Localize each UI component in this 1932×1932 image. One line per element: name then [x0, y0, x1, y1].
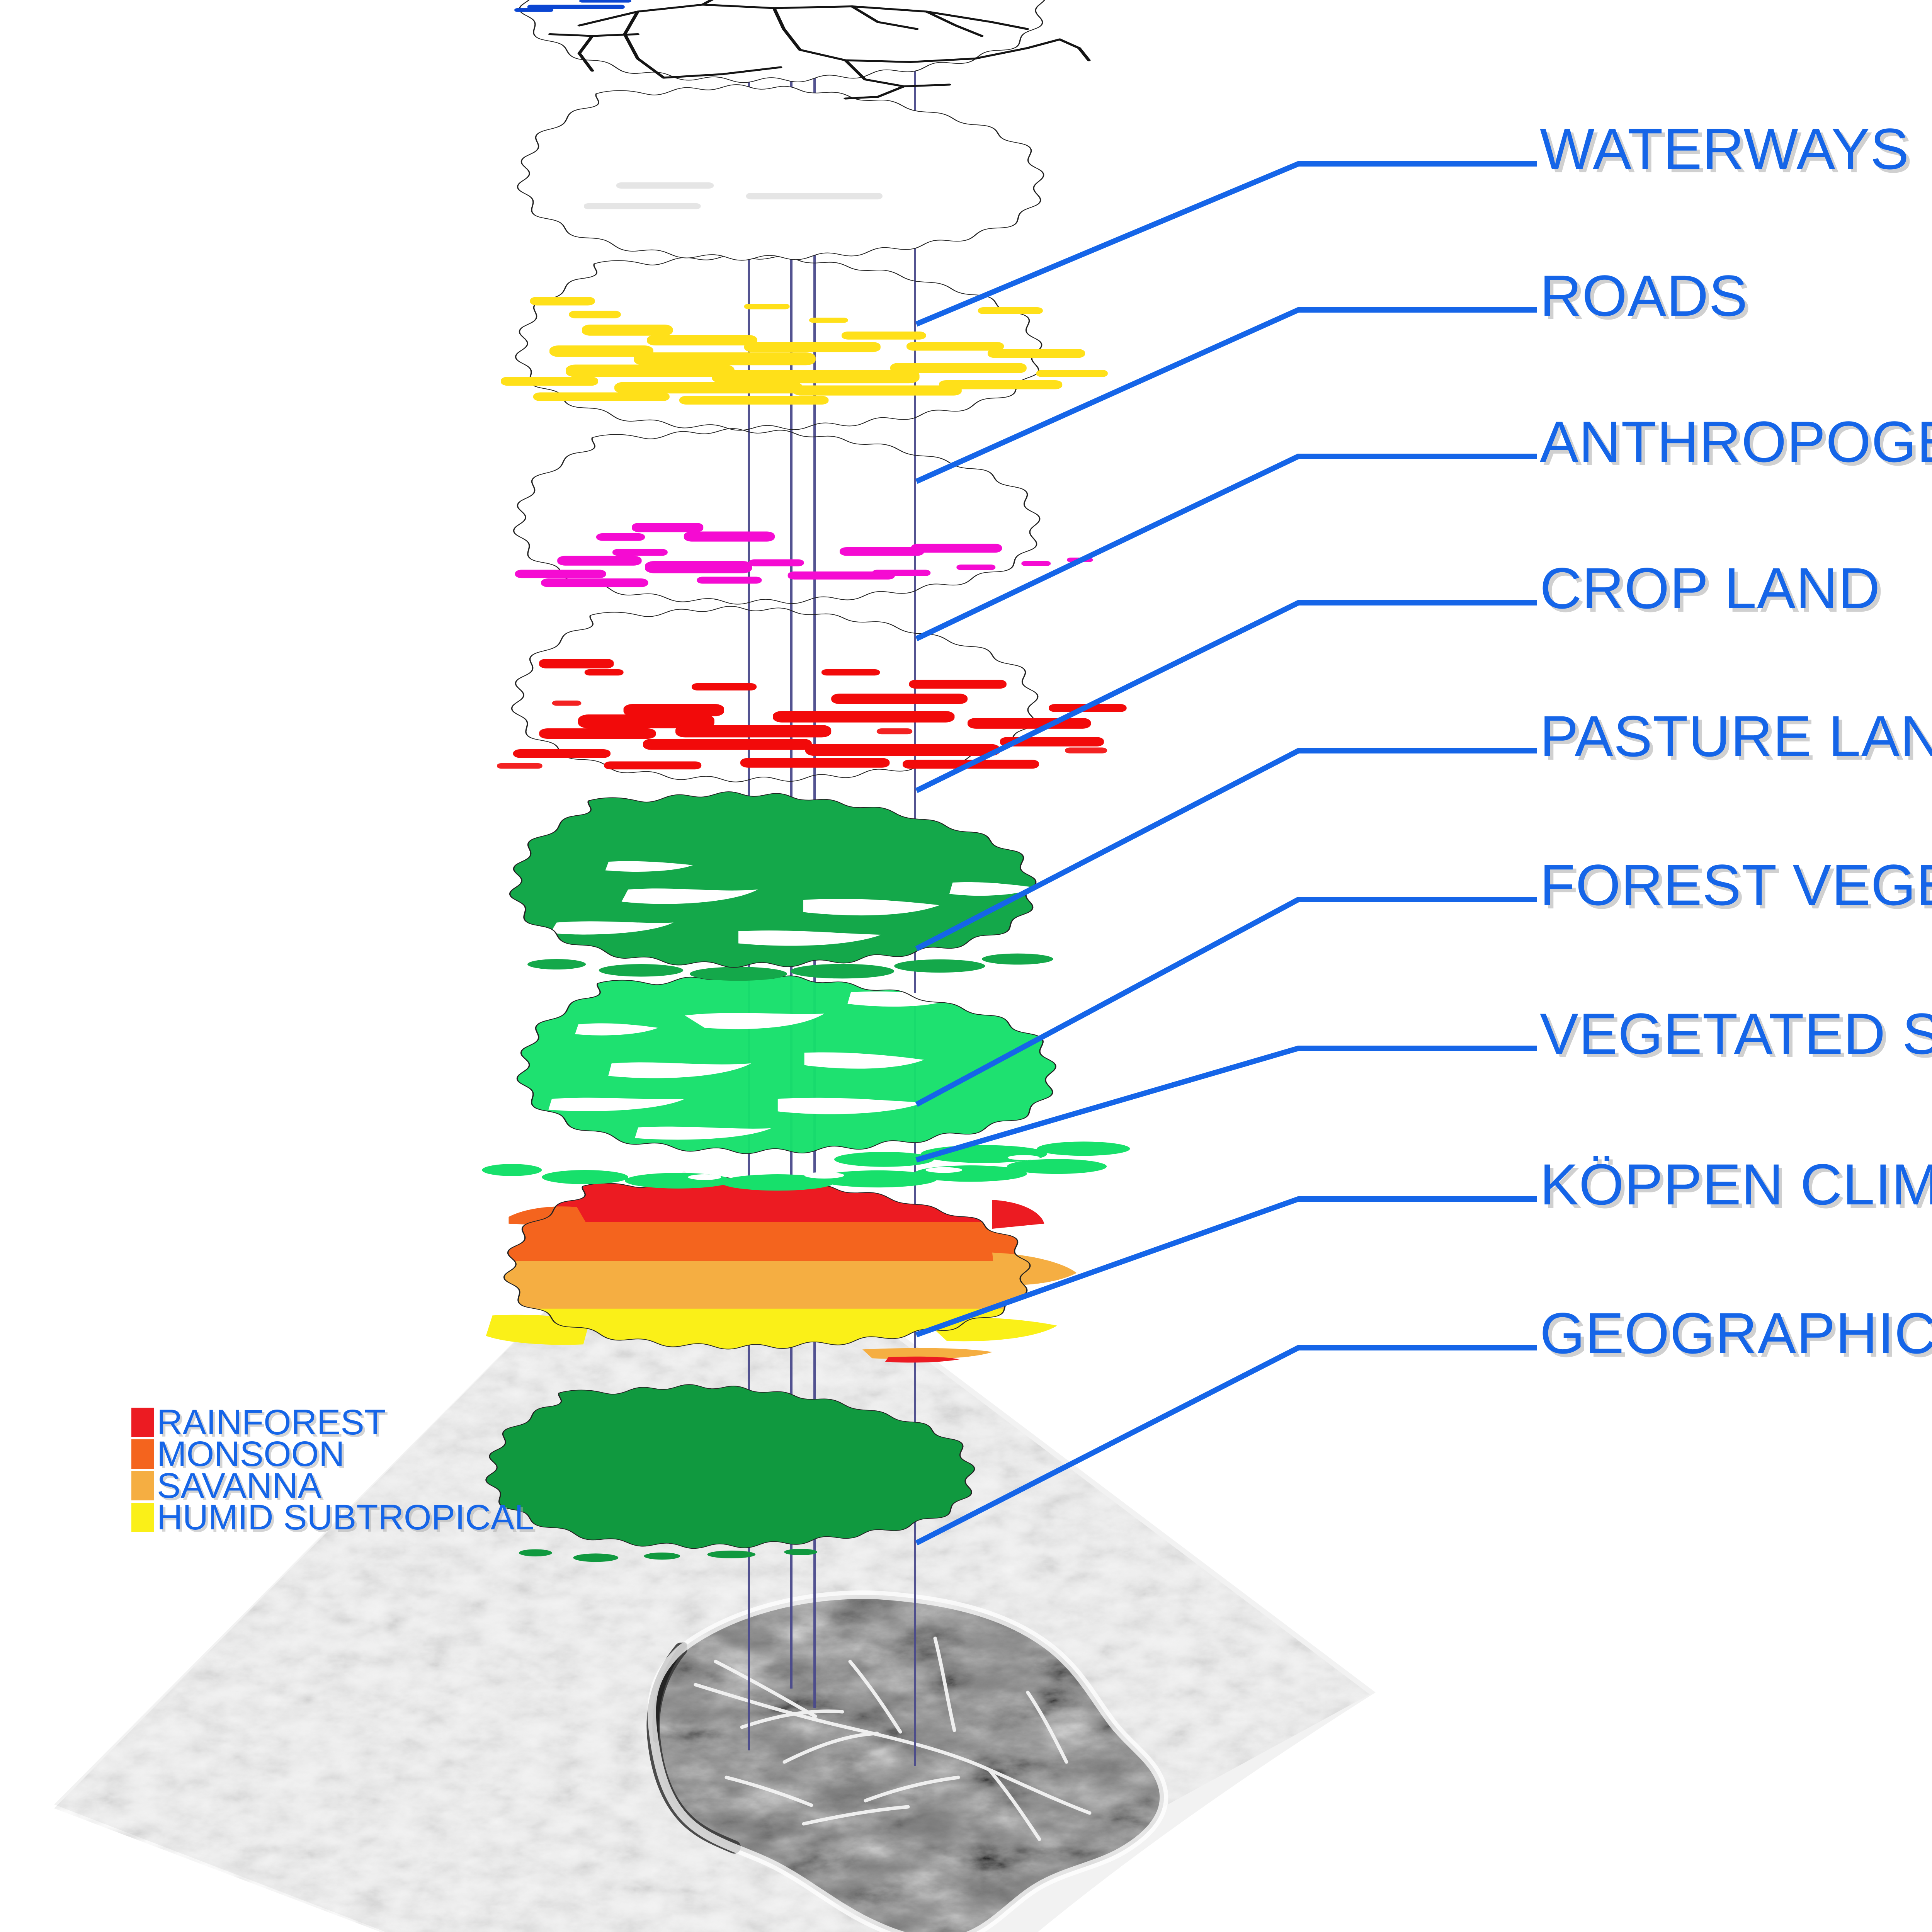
layer-anthropogenic-land-use — [518, 85, 1044, 260]
layer-forest-vegetation — [497, 606, 1127, 782]
legend-item-humid-subtropical[interactable]: HUMID SUBTROPICAL — [131, 1502, 534, 1533]
legend-swatch-humid-subtropical — [131, 1503, 154, 1532]
label-crop-land[interactable]: CROP LAND — [1540, 559, 1880, 617]
legend-item-rainforest[interactable]: RAINFOREST — [131, 1406, 534, 1438]
label-forest-vegetation[interactable]: FOREST VEGETATION — [1540, 856, 1932, 914]
legend-swatch-monsoon — [131, 1439, 154, 1469]
layer-pasture-land — [514, 429, 1093, 604]
label-geographic-boundary[interactable]: GEOGRAPHIC BOUNDARY OF THE AMAZON — [1540, 1304, 1932, 1362]
diagram-canvas: WATERWAYS ROADS ANTHROPOGENIC LAND USE C… — [0, 0, 1932, 1932]
label-koppen-climate-zones[interactable]: KÖPPEN CLIMATE ZONES — [1540, 1155, 1932, 1213]
leader-anthropogenic — [919, 456, 1534, 638]
label-vegetated-surface[interactable]: VEGETATED SURFACE — [1540, 1005, 1932, 1063]
layer-vegetated-surface — [482, 974, 1130, 1190]
layer-forest-vegetation-green — [510, 792, 1053, 981]
legend-swatch-savanna — [131, 1471, 154, 1500]
legend-item-savanna[interactable]: SAVANNA — [131, 1470, 534, 1502]
label-waterways[interactable]: WATERWAYS — [1540, 120, 1909, 178]
legend-swatch-rainforest — [131, 1408, 154, 1437]
label-pasture-land[interactable]: PASTURE LAND — [1540, 707, 1932, 765]
layer-koppen — [473, 1169, 1090, 1362]
label-anthropogenic-land-use[interactable]: ANTHROPOGENIC LAND USE — [1540, 413, 1932, 471]
label-roads[interactable]: ROADS — [1540, 267, 1748, 325]
legend-label-humid-subtropical: HUMID SUBTROPICAL — [157, 1500, 534, 1535]
koppen-legend: RAINFOREST MONSOON SAVANNA HUMID SUBTROP… — [131, 1406, 534, 1533]
legend-item-monsoon[interactable]: MONSOON — [131, 1438, 534, 1470]
layer-roads — [514, 0, 1089, 99]
